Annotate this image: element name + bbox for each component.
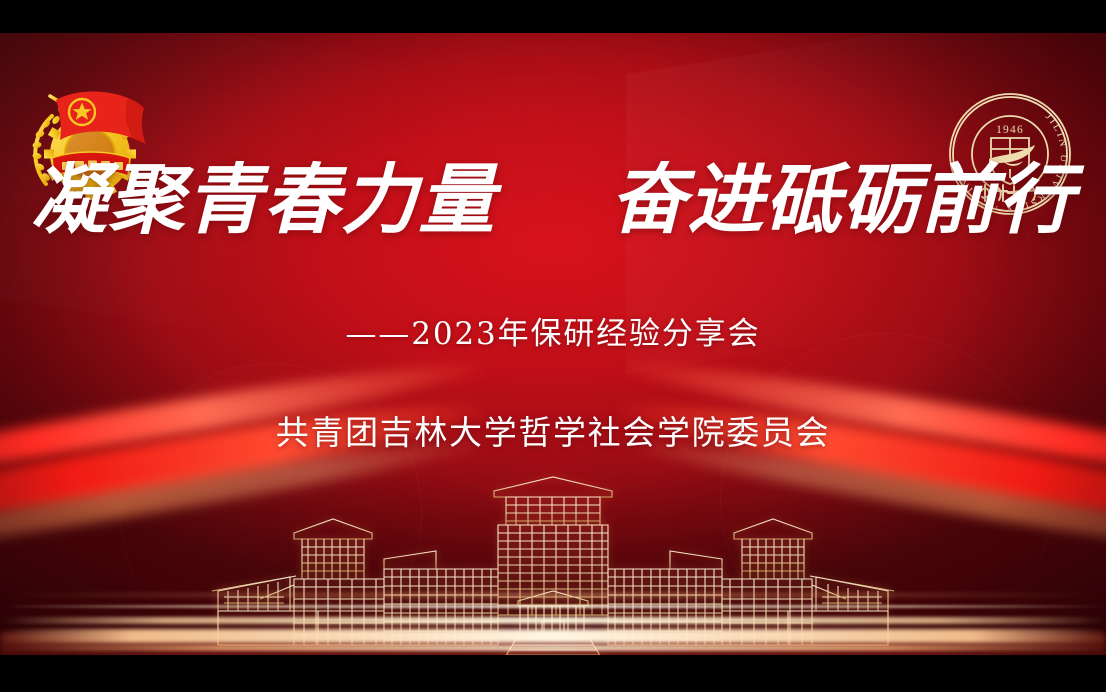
- subtitle: ——2023年保研经验分享会: [0, 308, 1106, 353]
- organizer-name: 共青团吉林大学哲学社会学院委员会: [0, 406, 1106, 454]
- title-line-2: 奋进砥砺前行: [610, 162, 1075, 238]
- letterbox-top: [0, 0, 1106, 33]
- light-streak-band: [0, 573, 1106, 655]
- svg-text:1946: 1946: [996, 124, 1024, 136]
- title-line-1: 凝聚青春力量: [31, 162, 496, 238]
- poster-slide: JILIN UNIVERSITY · CHINA 1946: [0, 0, 1106, 692]
- page-title: 凝聚青春力量 奋进砥砺前行: [0, 162, 1106, 238]
- letterbox-bottom: [0, 655, 1106, 692]
